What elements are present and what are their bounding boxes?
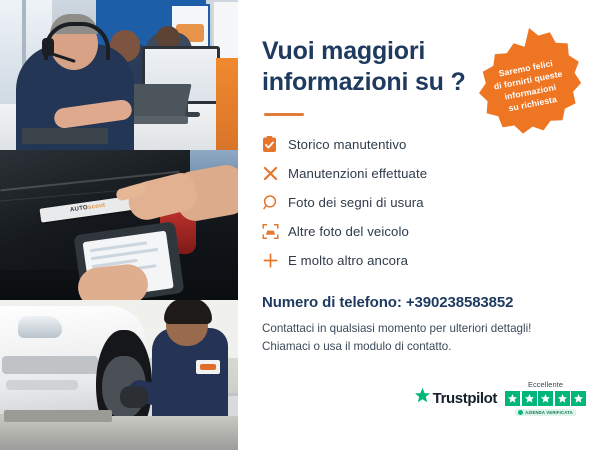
- headline-line-2: informazioni su ?: [262, 68, 466, 96]
- promo-banner: AUTOscout: [0, 0, 600, 450]
- trustpilot-widget[interactable]: Trustpilot Eccellente: [414, 380, 586, 416]
- lower-grille-shape: [6, 380, 78, 390]
- front-grille-shape: [2, 356, 98, 374]
- photo-column: AUTOscout: [0, 0, 238, 450]
- mechanic-hair-shape: [164, 300, 212, 324]
- rating-star-icon: [538, 391, 553, 406]
- car-inspection-photo: AUTOscout: [0, 150, 238, 300]
- subtitle-line-2: Chiamaci o usa il modulo di contatto.: [262, 340, 451, 353]
- tools-cross-icon: [262, 165, 288, 182]
- title-underline-rule: [264, 113, 304, 116]
- feature-item-foto-segni-usura: Foto dei segni di usura: [262, 188, 586, 216]
- trustpilot-star-icon: [414, 387, 431, 409]
- trustpilot-logo: Trustpilot: [414, 380, 497, 409]
- call-center-agents-photo: [0, 0, 238, 150]
- trustpilot-stars: [505, 391, 586, 406]
- feature-label: E molto altro ancora: [288, 253, 408, 268]
- rating-star-icon: [522, 391, 537, 406]
- trustpilot-rating: Eccellente: [505, 380, 586, 416]
- mechanic-glove-shape: [120, 386, 148, 408]
- feature-label: Storico manutentivo: [288, 137, 406, 152]
- feature-list: Storico manutentivo Manutenzioni effettu…: [262, 130, 586, 274]
- feature-label: Altre foto del veicolo: [288, 224, 409, 239]
- callout-badge: Saremo felici di fornirti queste informa…: [470, 26, 588, 144]
- keyboard-shape: [22, 128, 108, 144]
- verified-label: AZIENDA VERIFICATA: [525, 410, 573, 415]
- page-title: Vuoi maggiori informazioni su ?: [262, 0, 477, 97]
- badge-content: Saremo felici di fornirti queste informa…: [460, 16, 598, 154]
- feature-item-molto-altro: E molto altro ancora: [262, 246, 586, 274]
- info-panel: Vuoi maggiori informazioni su ? Storico …: [238, 0, 600, 450]
- trustpilot-name: Trustpilot: [433, 390, 497, 407]
- verified-check-icon: [518, 410, 523, 415]
- contact-subtitle: Contattaci in qualsiasi momento per ulte…: [262, 320, 586, 356]
- feature-item-manutenzioni-effettuate: Manutenzioni effettuate: [262, 159, 586, 187]
- uniform-logo-patch: [196, 360, 220, 374]
- feature-item-altre-foto-veicolo: Altre foto del veicolo: [262, 217, 586, 245]
- camera-focus-car-icon: [262, 223, 288, 240]
- rating-star-icon: [505, 391, 520, 406]
- phone-number-label[interactable]: Numero di telefono: +390238583852: [262, 294, 586, 311]
- lift-arm-shape: [4, 410, 112, 422]
- trustpilot-rating-label: Eccellente: [528, 380, 563, 389]
- garage-wheel-photo: [0, 300, 238, 450]
- subtitle-line-1: Contattaci in qualsiasi momento per ulte…: [262, 322, 531, 335]
- rating-star-icon: [555, 391, 570, 406]
- clipboard-check-icon: [262, 136, 288, 153]
- feature-label: Manutenzioni effettuate: [288, 166, 427, 181]
- headline-line-1: Vuoi maggiori: [262, 37, 425, 65]
- headlight-shape: [18, 316, 62, 338]
- orange-panel-shape: [216, 58, 238, 150]
- verified-business-badge: AZIENDA VERIFICATA: [515, 409, 576, 416]
- badge-text: Saremo felici di fornirti queste informa…: [482, 54, 576, 118]
- feature-label: Foto dei segni di usura: [288, 195, 424, 210]
- rating-star-icon: [571, 391, 586, 406]
- magnifier-icon: [262, 194, 288, 211]
- plus-icon: [262, 252, 288, 269]
